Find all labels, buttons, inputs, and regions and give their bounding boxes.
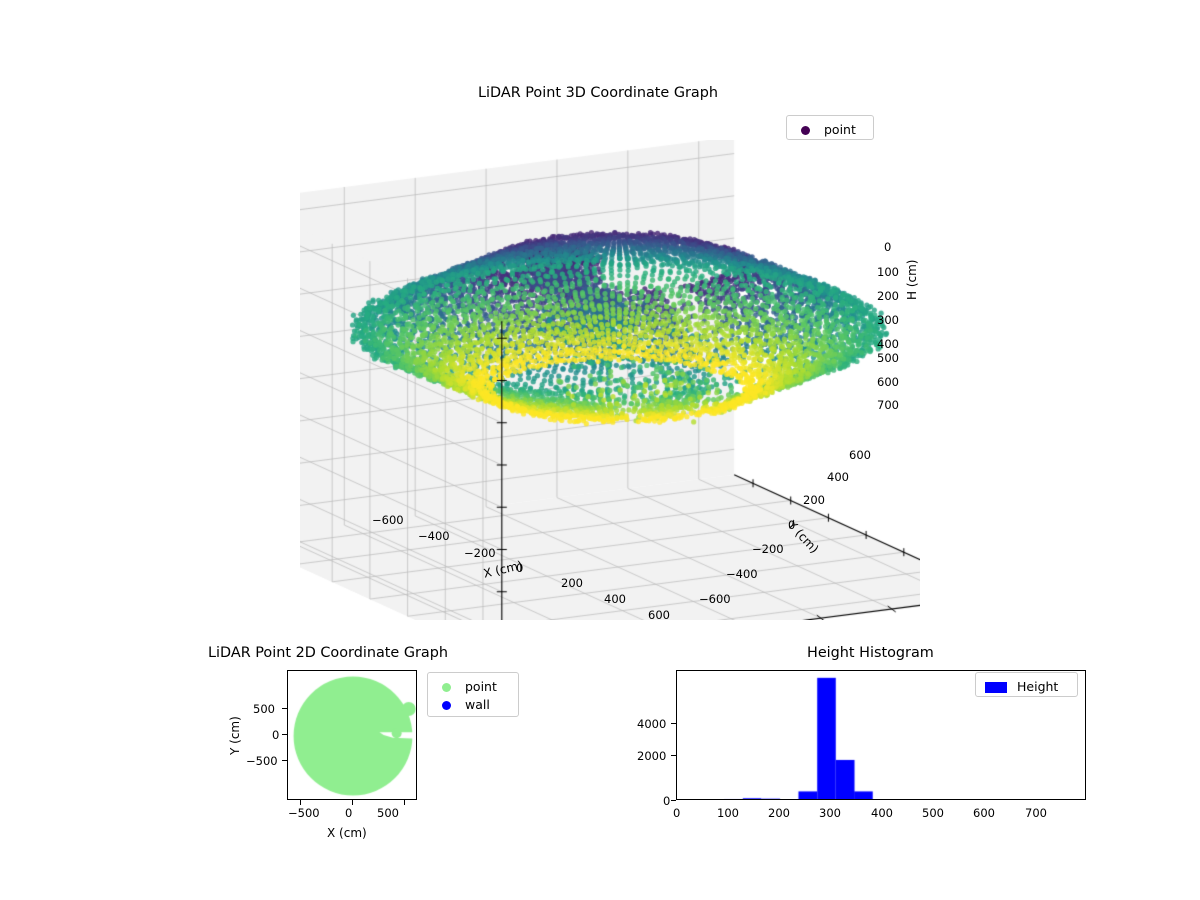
histogram-xtick-2: 200 <box>768 806 790 820</box>
plot-2d-ytick-0: −500 <box>246 754 278 768</box>
plot-3d-ytick-1: −400 <box>726 567 758 581</box>
plot-3d-xtick-1: −400 <box>418 529 450 543</box>
legend-item-height[interactable]: Height <box>983 677 1070 695</box>
legend-item-wall[interactable]: wall <box>435 695 511 713</box>
plot-3d-xtick-6: 600 <box>648 608 670 622</box>
plot-2d-axes[interactable] <box>287 670 417 800</box>
legend-label-point: point <box>816 122 856 137</box>
wall-marker-icon <box>435 695 457 714</box>
plot-3d-xtick-0: −600 <box>372 513 404 527</box>
plot-2d-xtick-0: −500 <box>288 806 320 820</box>
histogram-ytick-1: 2000 <box>637 749 666 763</box>
point-marker-icon <box>794 120 816 139</box>
plot-3d-ztick-5: 500 <box>877 351 899 365</box>
plot-3d-ztick-6: 600 <box>877 375 899 389</box>
plot-2d-ytick-1: 0 <box>272 728 279 742</box>
histogram-xtick-1: 100 <box>717 806 739 820</box>
height-patch-icon <box>983 677 1009 696</box>
plot-2d-ytick-2: 500 <box>253 702 275 716</box>
plot-3d-ztick-4: 400 <box>877 337 899 351</box>
plot-3d-ztick-3: 300 <box>877 313 899 327</box>
plot-3d-ytick-4: 200 <box>803 493 825 507</box>
plot-2d-xtick-2: 500 <box>377 806 399 820</box>
figure-canvas: LiDAR Point 3D Coordinate Graph point 0 … <box>0 0 1200 900</box>
histogram-title: Height Histogram <box>807 645 934 661</box>
legend-item-point[interactable]: point <box>435 677 511 695</box>
plot-3d-xtick-5: 400 <box>604 592 626 606</box>
histogram-ytick-2: 4000 <box>637 717 666 731</box>
plot-3d-ztick-1: 100 <box>877 265 899 279</box>
plot-3d-ytick-6: 600 <box>849 448 871 462</box>
histogram-legend[interactable]: Height <box>975 672 1078 697</box>
plot-2d-xtick-1: 0 <box>345 806 352 820</box>
plot-3d-ztick-2: 200 <box>877 289 899 303</box>
histogram-xtick-3: 300 <box>819 806 841 820</box>
plot-2d-legend[interactable]: point wall <box>427 672 519 717</box>
legend-label-wall: wall <box>457 697 490 712</box>
legend-label-height: Height <box>1009 679 1058 694</box>
plot-2d-panel: LiDAR Point 2D Coordinate Graph 500 0 −5… <box>0 630 600 900</box>
histogram-xtick-6: 600 <box>973 806 995 820</box>
plot-3d-ytick-5: 400 <box>827 470 849 484</box>
plot-2d-xaxis-label: X (cm) <box>327 826 367 840</box>
histogram-ytick-0: 0 <box>663 794 670 808</box>
plot-2d-yaxis-label: Y (cm) <box>228 716 242 755</box>
histogram-xtick-7: 700 <box>1025 806 1047 820</box>
plot-3d-xtick-2: −200 <box>464 546 496 560</box>
plot-2d-title: LiDAR Point 2D Coordinate Graph <box>208 645 448 661</box>
legend-label-point: point <box>457 679 497 694</box>
histogram-xtick-5: 500 <box>922 806 944 820</box>
plot-3d-panel: LiDAR Point 3D Coordinate Graph point 0 … <box>0 0 1200 630</box>
plot-3d-ytick-0: −600 <box>699 592 731 606</box>
histogram-xtick-0: 0 <box>673 806 680 820</box>
histogram-xtick-4: 400 <box>871 806 893 820</box>
point-marker-icon <box>435 677 457 696</box>
plot-2d-scatter-canvas <box>288 671 417 800</box>
plot-3d-ztick-7: 700 <box>877 398 899 412</box>
plot-3d-xtick-4: 200 <box>561 576 583 590</box>
histogram-panel: Height Histogram 4000 2000 0 0 100 200 3… <box>600 630 1200 900</box>
plot-3d-ytick-2: −200 <box>752 542 784 556</box>
plot-3d-ztick-0: 0 <box>884 240 891 254</box>
legend-item-point[interactable]: point <box>794 120 866 138</box>
plot-3d-zaxis-label: H (cm) <box>905 260 919 301</box>
plot-3d-title: LiDAR Point 3D Coordinate Graph <box>478 85 718 101</box>
plot-3d-scatter-canvas <box>300 140 920 620</box>
plot-3d-legend[interactable]: point <box>786 115 874 140</box>
